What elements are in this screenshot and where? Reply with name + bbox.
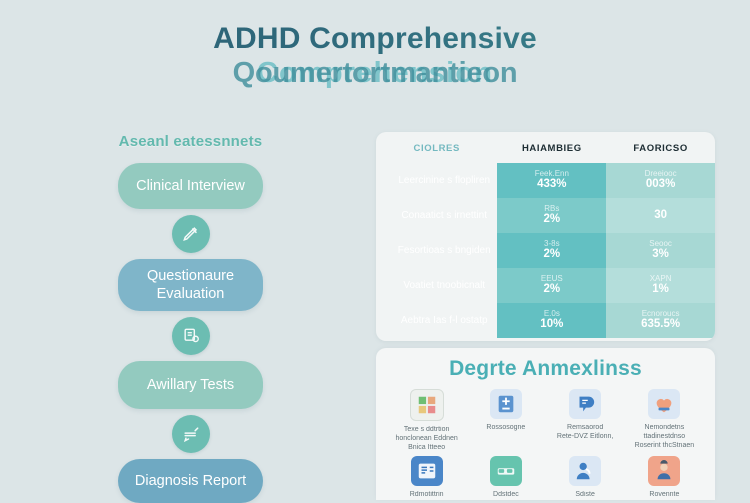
annotation-item[interactable]: Rossosogne bbox=[467, 389, 544, 452]
annotation-label: Remsaorod Rete-DVZ Eitlonn, bbox=[547, 423, 624, 441]
annotation-item[interactable]: Ddstdec bbox=[467, 456, 544, 499]
row-value-col1: RBs 2% bbox=[497, 198, 606, 233]
row-label: Fesortioas s bngiden bbox=[376, 233, 497, 268]
annotation-label: Rossosogne bbox=[467, 423, 544, 432]
brain-profile-icon bbox=[569, 389, 601, 419]
infographic-canvas: ADHD Comprehensive Comprehension Qoumert… bbox=[0, 0, 750, 500]
cell-subtext: Dreeiooc bbox=[607, 169, 714, 178]
row-value-col1: EEUS 2% bbox=[497, 268, 606, 303]
row-label: Conaatict s irnettint bbox=[376, 198, 497, 233]
row-label: Leercinine s flopliren bbox=[376, 163, 497, 198]
checklist-document-icon bbox=[410, 389, 444, 421]
cell-value: 003% bbox=[607, 178, 714, 191]
flow-step-label: Diagnosis Report bbox=[135, 472, 246, 490]
annotation-item[interactable]: Remsaorod Rete-DVZ Eitlonn, bbox=[547, 389, 624, 452]
annotation-label: Texe s ddtrtion honclonean Eddnen Bnica … bbox=[388, 425, 465, 452]
cell-value: 433% bbox=[498, 178, 605, 191]
row-value-col2: Dreeiooc 003% bbox=[606, 163, 715, 198]
cell-subtext: RBs bbox=[498, 204, 605, 213]
annotation-item[interactable]: Rovennte bbox=[626, 456, 703, 499]
row-value-col2: 30 bbox=[606, 198, 715, 233]
annotation-label: Rdmotittrin bbox=[388, 490, 465, 499]
row-value-col2: Seooc 3% bbox=[606, 233, 715, 268]
row-value-col2: Ecnoroucs 635.5% bbox=[606, 303, 715, 338]
flow-step-auxiliary-tests[interactable]: Awillary Tests bbox=[118, 361, 263, 409]
report-card-icon bbox=[411, 456, 443, 486]
cell-subtext: Ecnoroucs bbox=[607, 309, 714, 318]
table-row: Aebtra Ias f-l ostatp E.0s 10% Ecnoroucs… bbox=[376, 303, 715, 338]
cell-value: 10% bbox=[498, 318, 605, 331]
column-header-col2: FAORICSO bbox=[606, 132, 715, 163]
assessment-flowchart: Aseanl eatessnnets Clinical Interview Qu… bbox=[88, 133, 293, 503]
annotation-item[interactable]: Sdiste bbox=[547, 456, 624, 499]
flowchart-heading: Aseanl eatessnnets bbox=[88, 133, 293, 150]
clipboard-form-icon bbox=[172, 317, 210, 355]
cell-subtext: E.0s bbox=[498, 309, 605, 318]
table-row: Leercinine s flopliren Feek.Enn 433% Dre… bbox=[376, 163, 715, 198]
row-value-col1: 3-8s 2% bbox=[497, 233, 606, 268]
heart-pill-icon bbox=[648, 389, 680, 419]
annotations-title: Degrte Anmexlinss bbox=[376, 348, 715, 381]
statistics-table-card: CIOLRES HAIAMBIEG FAORICSO Leercinine s … bbox=[376, 132, 715, 341]
cell-subtext: EEUS bbox=[498, 274, 605, 283]
flow-step-clinical-interview[interactable]: Clinical Interview bbox=[118, 163, 263, 209]
cell-subtext: Seooc bbox=[607, 239, 714, 248]
person-support-icon bbox=[569, 456, 601, 486]
annotation-item[interactable]: Rdmotittrin bbox=[388, 456, 465, 499]
flow-step-label: Questionaure Evaluation bbox=[118, 267, 263, 303]
table-row: Fesortioas s bngiden 3-8s 2% Seooc 3% bbox=[376, 233, 715, 268]
annotation-label: Nemondetns ttadinestdnso Roserint thcStn… bbox=[626, 423, 703, 450]
annotation-label: Sdiste bbox=[547, 490, 624, 499]
annotation-label: Ddstdec bbox=[467, 490, 544, 499]
annotation-label: Rovennte bbox=[626, 490, 703, 499]
title-line-secondary-b: Qoumertortmantieon bbox=[0, 57, 750, 90]
pen-writing-icon bbox=[172, 215, 210, 253]
flow-step-questionnaire-evaluation[interactable]: Questionaure Evaluation bbox=[118, 259, 263, 311]
row-value-col2: XAPN 1% bbox=[606, 268, 715, 303]
column-header-col1: HAIAMBIEG bbox=[497, 132, 606, 163]
calculator-icon bbox=[490, 389, 522, 419]
cell-value: 2% bbox=[498, 248, 605, 261]
row-label: Voatiet tnoobicnalt bbox=[376, 268, 497, 303]
annotations-grid: Texe s ddtrtion honclonean Eddnen Bnica … bbox=[376, 381, 715, 499]
cell-subtext: 3-8s bbox=[498, 239, 605, 248]
bed-rest-icon bbox=[490, 456, 522, 486]
annotation-item[interactable]: Nemondetns ttadinestdnso Roserint thcStn… bbox=[626, 389, 703, 452]
table-row: Voatiet tnoobicnalt EEUS 2% XAPN 1% bbox=[376, 268, 715, 303]
row-value-col1: Feek.Enn 433% bbox=[497, 163, 606, 198]
document-check-icon bbox=[172, 415, 210, 453]
flow-step-label: Clinical Interview bbox=[136, 177, 245, 195]
title-line-secondary: Comprehension Qoumertortmantieon bbox=[0, 57, 750, 93]
cell-value: 2% bbox=[498, 213, 605, 226]
annotations-card: Degrte Anmexlinss Texe s ddtrtion honclo… bbox=[376, 348, 715, 500]
flow-step-diagnosis-report[interactable]: Diagnosis Report bbox=[118, 459, 263, 503]
cell-value: 3% bbox=[607, 248, 714, 261]
cell-value: 30 bbox=[607, 209, 714, 222]
cell-subtext: Feek.Enn bbox=[498, 169, 605, 178]
row-value-col1: E.0s 10% bbox=[497, 303, 606, 338]
counselor-icon bbox=[648, 456, 680, 486]
title-line-primary: ADHD Comprehensive bbox=[0, 22, 750, 57]
cell-value: 1% bbox=[607, 283, 714, 296]
statistics-table: CIOLRES HAIAMBIEG FAORICSO Leercinine s … bbox=[376, 132, 715, 338]
table-row: Conaatict s irnettint RBs 2% 30 bbox=[376, 198, 715, 233]
column-header-criteria: CIOLRES bbox=[376, 132, 497, 163]
cell-subtext: XAPN bbox=[607, 274, 714, 283]
cell-value: 2% bbox=[498, 283, 605, 296]
cell-value: 635.5% bbox=[607, 318, 714, 331]
page-title: ADHD Comprehensive Comprehension Qoumert… bbox=[0, 22, 750, 93]
table-header-row: CIOLRES HAIAMBIEG FAORICSO bbox=[376, 132, 715, 163]
row-label: Aebtra Ias f-l ostatp bbox=[376, 303, 497, 338]
annotation-item[interactable]: Texe s ddtrtion honclonean Eddnen Bnica … bbox=[388, 389, 465, 452]
flow-step-label: Awillary Tests bbox=[147, 376, 234, 394]
